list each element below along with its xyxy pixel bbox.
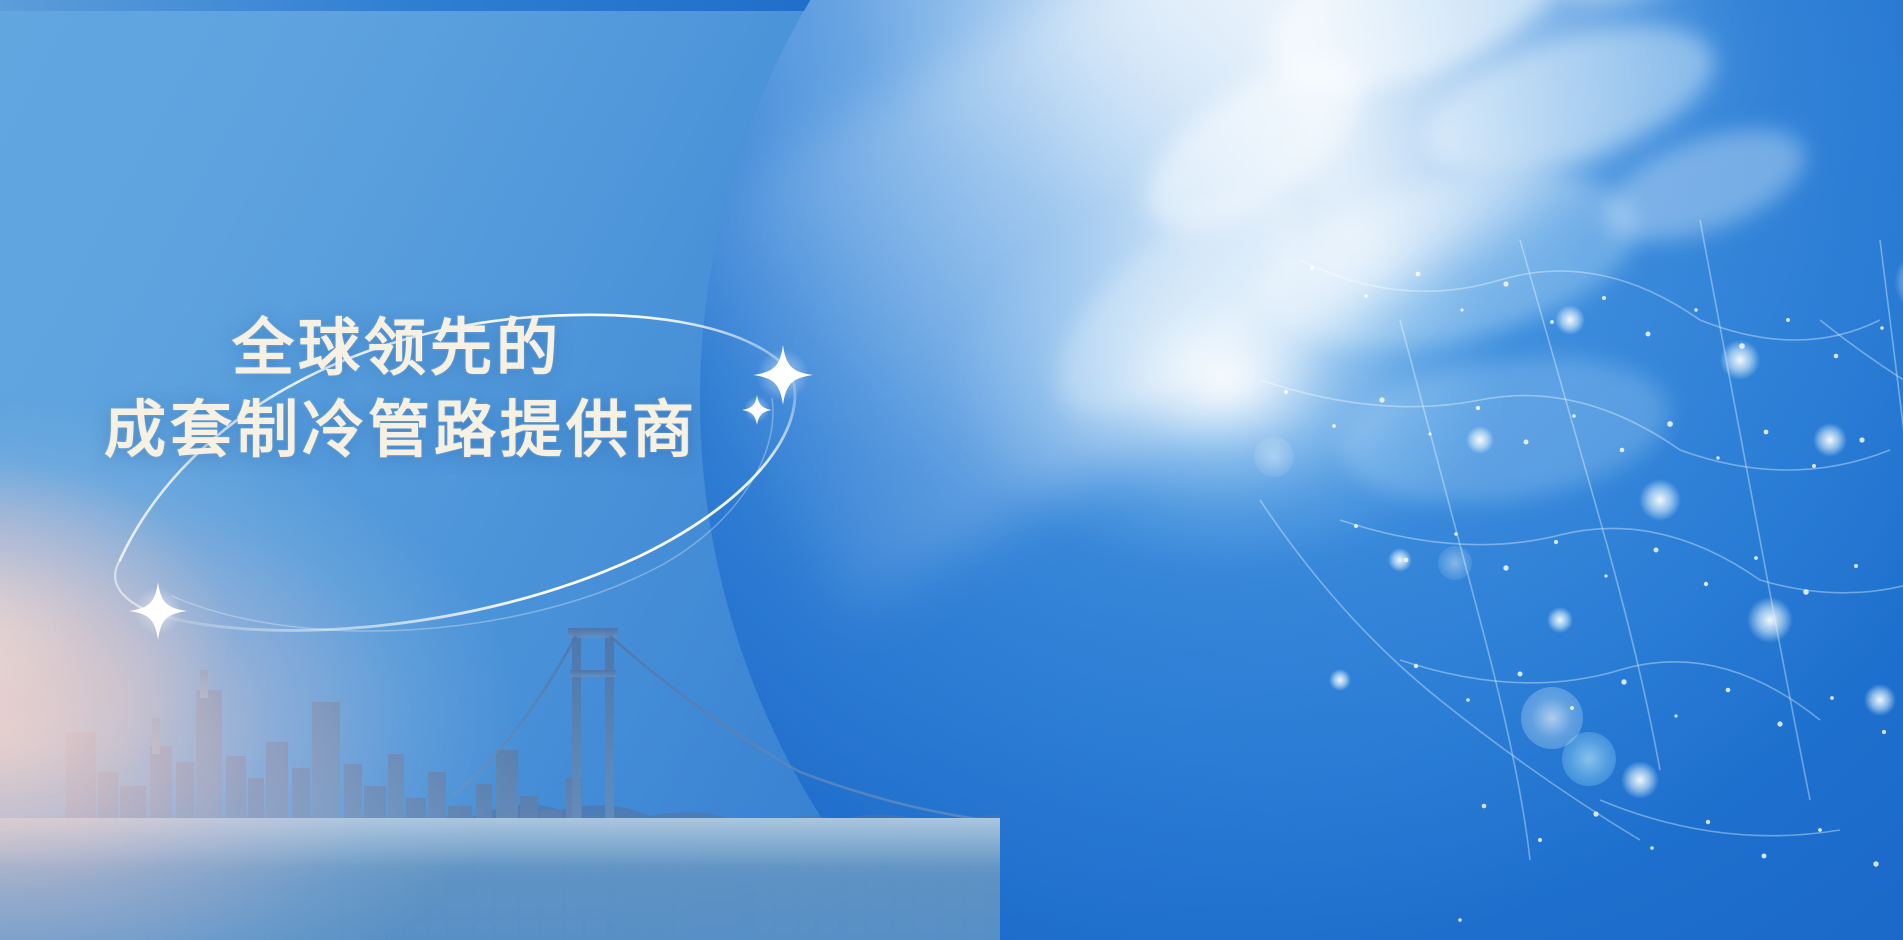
hero-banner: 全球领先的 成套制冷管路提供商 <box>0 0 1903 940</box>
headline-line-2: 成套制冷管路提供商 <box>104 390 698 472</box>
headline-line-1: 全球领先的 <box>104 308 698 390</box>
headline-block: 全球领先的 成套制冷管路提供商 <box>104 308 698 472</box>
warm-sunset-haze-inner <box>0 420 500 840</box>
